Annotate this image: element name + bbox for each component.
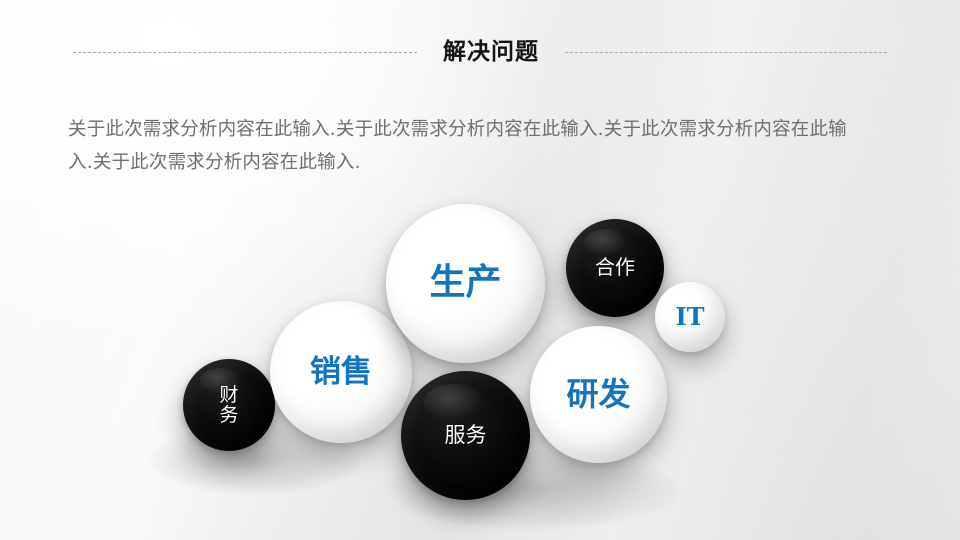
bubble-cooperation[interactable]: 合作 (566, 219, 664, 317)
bubble-label-it: IT (675, 304, 704, 329)
bubble-label-sales: 销售 (310, 356, 372, 389)
page-title: 解决问题 (443, 41, 539, 64)
bubble-cluster: 财 务 销售 生产 合作 IT 服务 研发 (0, 0, 960, 540)
body-paragraph: 关于此次需求分析内容在此输入.关于此次需求分析内容在此输入.关于此次需求分析内容… (68, 113, 858, 179)
bubble-finance[interactable]: 财 务 (183, 359, 275, 451)
slide-canvas: 解决问题 关于此次需求分析内容在此输入.关于此次需求分析内容在此输入.关于此次需… (0, 0, 960, 540)
bubble-it[interactable]: IT (655, 282, 725, 352)
bubble-service[interactable]: 服务 (401, 371, 530, 500)
bubble-label-production: 生产 (429, 264, 501, 302)
bubble-production[interactable]: 生产 (386, 204, 545, 363)
bubble-label-cooperation: 合作 (595, 257, 635, 278)
bubble-rd[interactable]: 研发 (530, 326, 667, 463)
bubble-sales[interactable]: 销售 (270, 301, 412, 443)
bubble-label-finance: 财 务 (219, 385, 238, 425)
title-divider-left (73, 52, 417, 53)
bubble-label-rd: 研发 (566, 378, 630, 412)
slide-header: 解决问题 (0, 34, 960, 70)
title-divider-right (565, 52, 887, 53)
bubble-label-service: 服务 (445, 424, 487, 446)
